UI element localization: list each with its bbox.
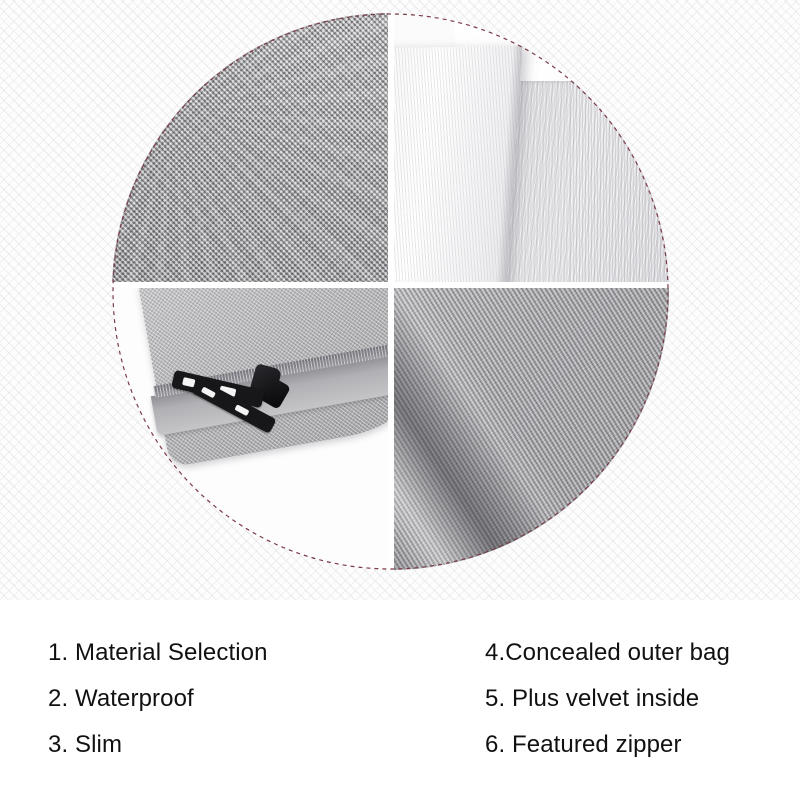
feature-item-5: 5. Plus velvet inside bbox=[485, 676, 730, 722]
feature-column-left: 1. Material Selection 2. Waterproof 3. S… bbox=[48, 630, 268, 768]
collage-quadrant-top-left bbox=[112, 13, 388, 282]
feature-item-6: 6. Featured zipper bbox=[485, 722, 730, 768]
feature-item-1: 1. Material Selection bbox=[48, 630, 268, 676]
collage-circle-mask bbox=[112, 13, 669, 570]
woven-grey-fabric-swatch bbox=[112, 13, 388, 282]
collage-quadrant-top-right bbox=[394, 13, 669, 282]
collage-quadrant-bottom-left bbox=[112, 288, 388, 570]
zipper-pull-hole bbox=[234, 404, 249, 416]
product-feature-collage bbox=[112, 13, 669, 570]
feature-list-panel: 1. Material Selection 2. Waterproof 3. S… bbox=[0, 600, 800, 800]
collage-quadrant-bottom-right bbox=[394, 288, 669, 570]
feature-item-4: 4.Concealed outer bag bbox=[485, 630, 730, 676]
zipper-pull-hole bbox=[201, 386, 216, 398]
waterproof-flap-icon bbox=[394, 46, 523, 282]
feature-item-2: 2. Waterproof bbox=[48, 676, 268, 722]
feature-column-right: 4.Concealed outer bag 5. Plus velvet ins… bbox=[485, 630, 730, 768]
feature-item-3: 3. Slim bbox=[48, 722, 268, 768]
